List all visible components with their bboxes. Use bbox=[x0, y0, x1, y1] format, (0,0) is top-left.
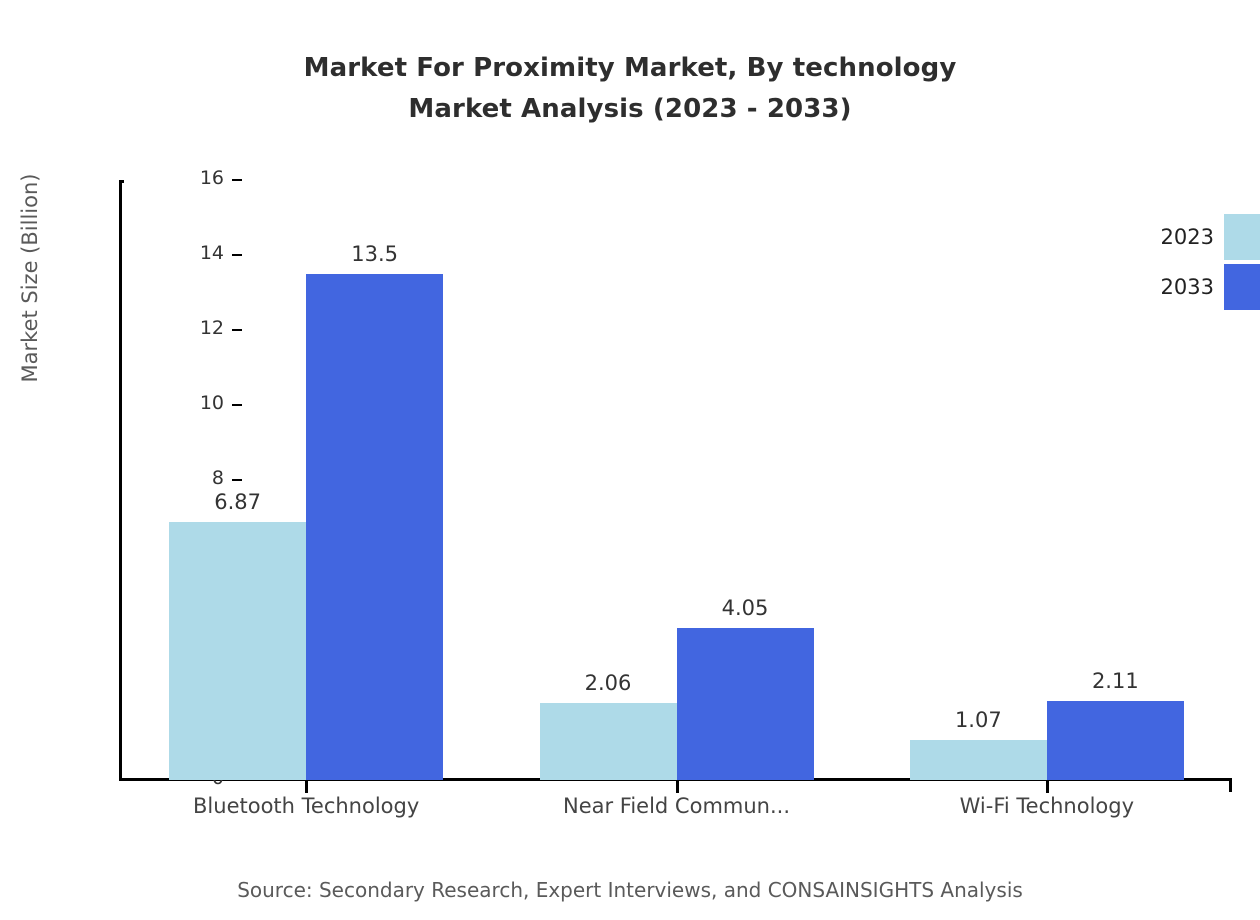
bar-value-label: 1.07 bbox=[955, 708, 1002, 732]
y-tick-mark bbox=[232, 404, 242, 406]
y-axis-title: Market Size (Billion) bbox=[18, 0, 42, 558]
y-tick-label: 14 bbox=[200, 242, 224, 264]
legend-label: 2033 bbox=[1130, 275, 1214, 299]
bar[interactable] bbox=[677, 628, 814, 780]
y-tick-label: 8 bbox=[212, 467, 224, 489]
bar-value-label: 2.11 bbox=[1092, 669, 1139, 693]
legend-item[interactable]: 2033 bbox=[1130, 264, 1260, 314]
bar-value-label: 13.5 bbox=[351, 242, 398, 266]
legend-swatch bbox=[1224, 264, 1260, 310]
y-tick-label: 12 bbox=[200, 317, 224, 339]
bar[interactable] bbox=[169, 522, 306, 780]
y-tick-label: 16 bbox=[200, 167, 224, 189]
x-tick-mark bbox=[676, 780, 679, 793]
source-note: Source: Secondary Research, Expert Inter… bbox=[0, 878, 1260, 902]
legend-label: 2023 bbox=[1130, 225, 1214, 249]
chart-legend: 20232033 bbox=[1130, 214, 1260, 314]
y-tick-mark bbox=[232, 179, 242, 181]
bar-value-label: 4.05 bbox=[722, 596, 769, 620]
bar-value-label: 2.06 bbox=[585, 671, 632, 695]
plot-area: 0246810121416 6.8713.52.064.051.072.11 bbox=[121, 180, 1232, 780]
x-tick-label: Near Field Commun... bbox=[563, 794, 790, 818]
y-tick-label: 10 bbox=[200, 392, 224, 414]
x-tick-label: Bluetooth Technology bbox=[193, 794, 419, 818]
chart-title-line-1: Market For Proximity Market, By technolo… bbox=[304, 53, 957, 83]
x-tick-label: Wi-Fi Technology bbox=[960, 794, 1134, 818]
chart-title: Market For Proximity Market, By technolo… bbox=[0, 48, 1260, 130]
bar-chart: Market For Proximity Market, By technolo… bbox=[0, 0, 1260, 920]
x-tick-mark bbox=[1046, 780, 1049, 793]
y-tick-mark bbox=[232, 254, 242, 256]
y-tick-mark bbox=[232, 329, 242, 331]
x-axis-right-cap bbox=[1229, 778, 1232, 792]
chart-title-line-2: Market Analysis (2023 - 2033) bbox=[0, 89, 1260, 130]
bar-value-label: 6.87 bbox=[214, 490, 261, 514]
legend-swatch bbox=[1224, 214, 1260, 260]
legend-item[interactable]: 2023 bbox=[1130, 214, 1260, 264]
x-tick-mark bbox=[305, 780, 308, 793]
y-tick-mark bbox=[232, 479, 242, 481]
bar[interactable] bbox=[540, 703, 677, 780]
bar[interactable] bbox=[306, 274, 443, 780]
bar[interactable] bbox=[1047, 701, 1184, 780]
bar[interactable] bbox=[910, 740, 1047, 780]
